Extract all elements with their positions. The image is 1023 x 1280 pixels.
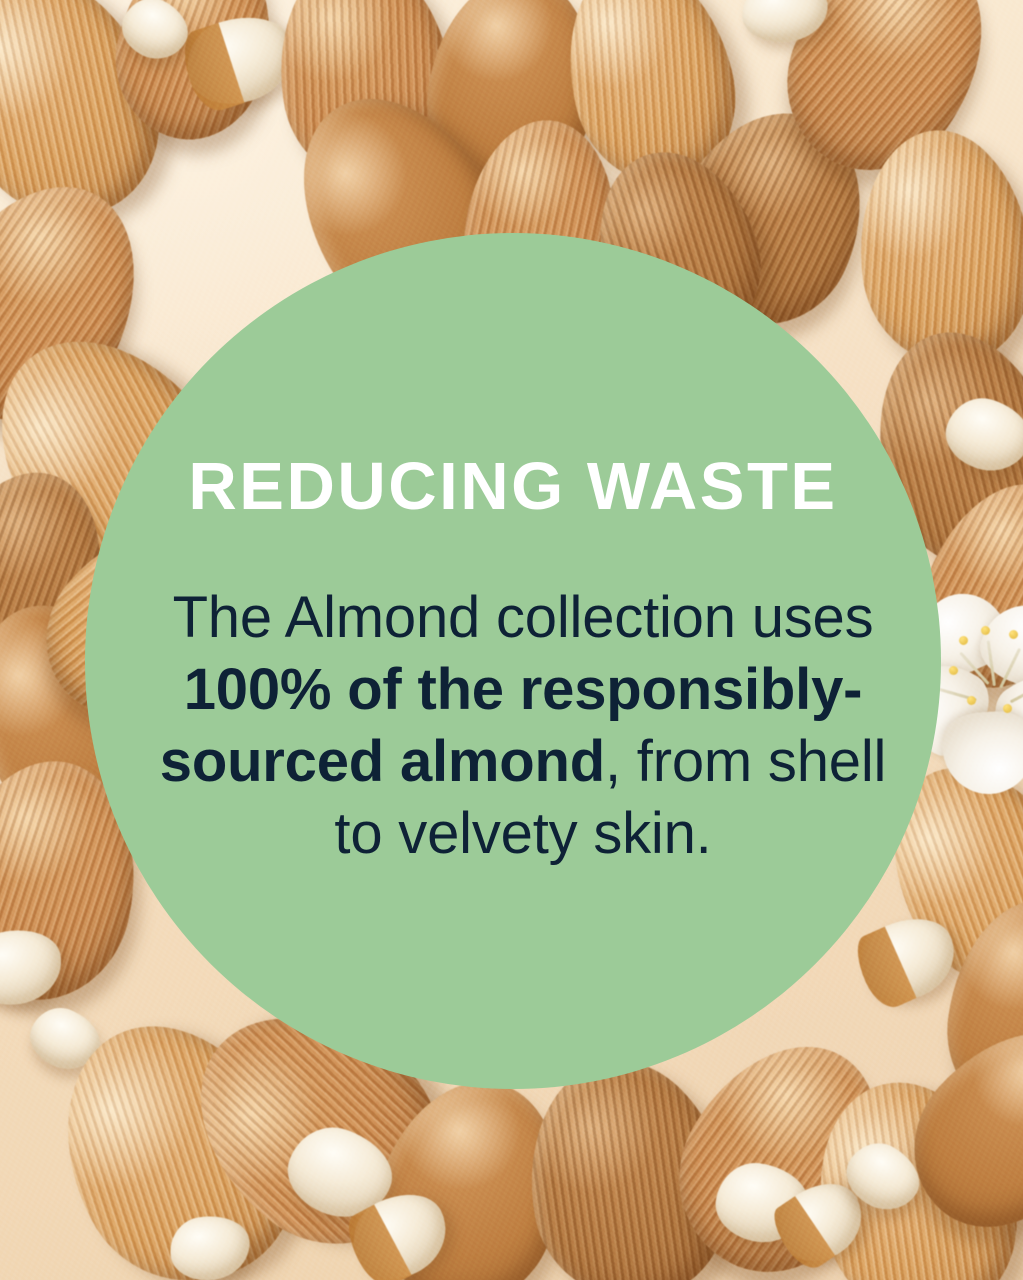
body-lead-text: The Almond collection uses — [173, 585, 874, 650]
body-copy: The Almond collection uses 100% of the r… — [153, 582, 893, 870]
green-circle-badge: REDUCING WASTE The Almond collection use… — [85, 233, 941, 1089]
badge-content: REDUCING WASTE The Almond collection use… — [153, 453, 873, 870]
headline: REDUCING WASTE — [153, 453, 873, 520]
promo-card: REDUCING WASTE The Almond collection use… — [0, 0, 1023, 1280]
